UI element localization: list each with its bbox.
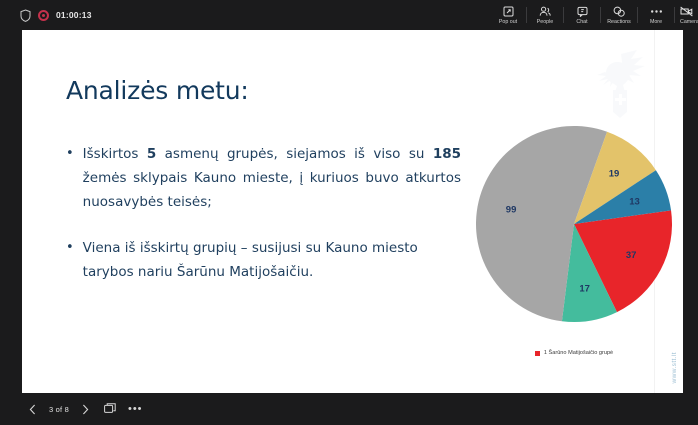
- pie-slice-label: 37: [626, 250, 637, 261]
- legend-label: 1 Šarūno Matijošaičio grupė: [544, 350, 613, 356]
- list-item: • Išskirtos 5 asmenų grupės, siejamos iš…: [66, 142, 461, 214]
- more-button[interactable]: More: [639, 0, 673, 30]
- camera-label: Camera: [680, 19, 698, 25]
- camera-button[interactable]: Camera: [676, 0, 698, 30]
- toolbar-divider: [600, 7, 601, 23]
- bullet-marker: •: [66, 142, 74, 214]
- toolbar-divider: [637, 7, 638, 23]
- reactions-icon: [613, 5, 625, 18]
- slide-grid-icon[interactable]: [103, 402, 117, 416]
- more-label: More: [650, 19, 662, 25]
- legend-swatch: [535, 351, 540, 356]
- slide-more-options-button[interactable]: •••: [128, 405, 143, 413]
- pop-out-label: Pop out: [499, 19, 517, 25]
- reactions-label: Reactions: [607, 19, 631, 25]
- slide-navigation-bar: 3 of 8 •••: [0, 393, 698, 425]
- camera-off-icon: [680, 5, 693, 18]
- chat-button[interactable]: Chat: [565, 0, 599, 30]
- meeting-top-bar: 01:00:13 Pop out People Chat: [0, 0, 698, 30]
- pie-chart: 3717991913 1 Šarūno Matijošaičio grupė: [474, 114, 674, 374]
- emphasis-number-185: 185: [433, 146, 461, 162]
- people-label: People: [537, 19, 554, 25]
- next-slide-button[interactable]: [80, 402, 92, 416]
- pie-slice-label: 99: [506, 205, 517, 216]
- record-indicator-icon: [38, 10, 49, 21]
- toolbar-divider: [563, 7, 564, 23]
- pie-slice-label: 13: [629, 197, 640, 208]
- slide-page-counter: 3 of 8: [49, 405, 69, 414]
- emphasis-number-5: 5: [147, 146, 156, 162]
- meeting-timer: 01:00:13: [56, 10, 92, 20]
- coat-of-arms-vytis-icon: [591, 50, 647, 120]
- people-button[interactable]: People: [528, 0, 562, 30]
- presentation-slide[interactable]: Analizės metu: • Išskirtos 5 asmenų grup…: [22, 30, 683, 393]
- previous-slide-button[interactable]: [26, 402, 38, 416]
- list-item: • Viena iš išskirtų grupių – susijusi su…: [66, 236, 461, 284]
- chart-legend: 1 Šarūno Matijošaičio grupė: [474, 350, 674, 356]
- bullet-text-2: Viena iš išskirtų grupių – susijusi su K…: [83, 236, 461, 284]
- pop-out-button[interactable]: Pop out: [491, 0, 525, 30]
- more-ellipsis-icon: [650, 5, 663, 18]
- top-bar-status-group: 01:00:13: [0, 9, 92, 22]
- bullet-marker: •: [66, 236, 74, 284]
- shield-icon: [20, 9, 31, 22]
- toolbar-divider: [674, 7, 675, 23]
- reactions-button[interactable]: Reactions: [602, 0, 636, 30]
- chat-icon: [577, 5, 588, 18]
- slide-title: Analizės metu:: [66, 76, 249, 105]
- pie-slice-label: 19: [609, 169, 620, 180]
- toolbar-divider: [526, 7, 527, 23]
- slide-url-watermark: www.stt.lt: [671, 352, 678, 383]
- pie-slice-label: 17: [579, 283, 590, 294]
- top-bar-actions: Pop out People Chat Reactions: [491, 0, 698, 30]
- chat-label: Chat: [576, 19, 587, 25]
- people-icon: [539, 5, 551, 18]
- pop-out-icon: [503, 5, 514, 18]
- slide-bullet-list: • Išskirtos 5 asmenų grupės, siejamos iš…: [66, 142, 461, 284]
- bullet-text-1: Išskirtos 5 asmenų grupės, siejamos iš v…: [83, 142, 461, 214]
- pie-chart-svg: 3717991913: [474, 114, 674, 344]
